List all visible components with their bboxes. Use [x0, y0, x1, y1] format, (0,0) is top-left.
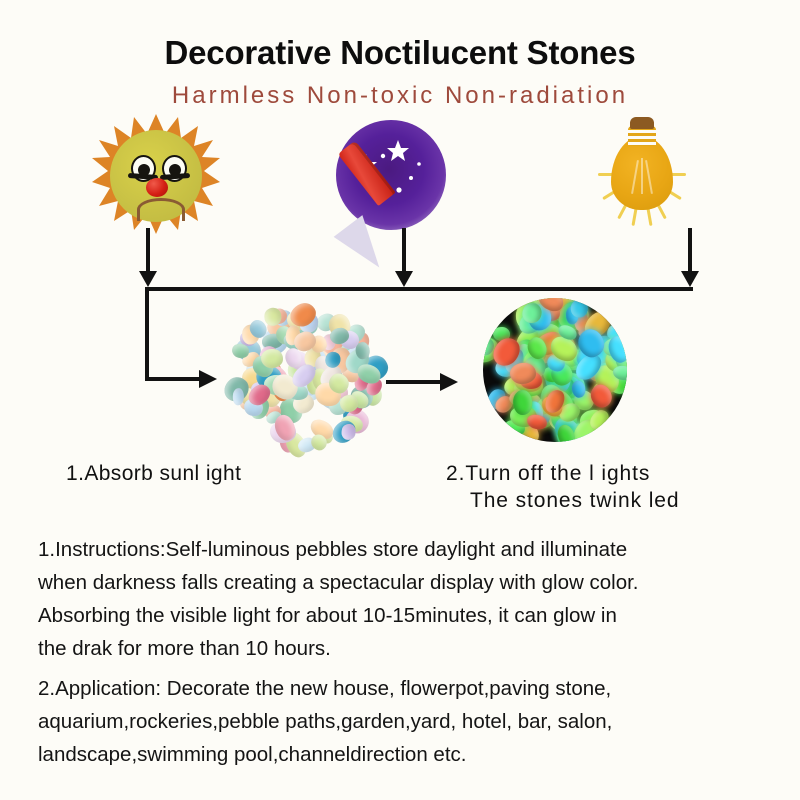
- application-line: landscape,swimming pool,channeldirection…: [38, 738, 768, 771]
- night-brush-icon: [330, 112, 458, 240]
- flow-elbow-horizontal: [145, 377, 201, 381]
- stone: [261, 348, 283, 367]
- bulb-thread: [628, 142, 656, 145]
- sun-icon: [92, 112, 220, 240]
- arrow-night-stem: [402, 228, 406, 274]
- stone: [264, 307, 282, 325]
- arrow-sun-stem: [146, 228, 150, 274]
- page-title: Decorative Noctilucent Stones: [0, 34, 800, 72]
- sun-frown-mouth: [137, 198, 185, 221]
- infographic-page: Decorative Noctilucent Stones Harmless N…: [0, 0, 800, 800]
- bulb-filament: [641, 158, 643, 194]
- star-icons: [336, 120, 446, 230]
- caption-step-2-line-2: The stones twink led: [470, 489, 679, 513]
- instructions-line: when darkness falls creating a spectacul…: [38, 566, 768, 599]
- page-subtitle: Harmless Non-toxic Non-radiation: [0, 82, 800, 110]
- light-bulb-icon: [578, 112, 708, 242]
- instructions-line: the drak for more than 10 hours.: [38, 632, 768, 665]
- caption-step-1: 1.Absorb sunl ight: [66, 462, 241, 486]
- glowing-stones-image: [483, 298, 627, 442]
- instructions-line: Absorbing the visible light for about 10…: [38, 599, 768, 632]
- bulb-thread: [628, 136, 656, 139]
- application-line: 2.Application: Decorate the new house, f…: [38, 672, 768, 705]
- bulb-thread: [628, 130, 656, 133]
- arrow-between-stones-head: [440, 373, 458, 391]
- instructions-line: 1.Instructions:Self-luminous pebbles sto…: [38, 533, 768, 566]
- arrow-to-daylight-stones-head: [199, 370, 217, 388]
- instructions-paragraph: 1.Instructions:Self-luminous pebbles sto…: [38, 533, 768, 665]
- stone: [339, 394, 359, 413]
- sun-nose: [146, 178, 168, 197]
- flow-elbow-vertical: [145, 287, 149, 381]
- application-line: aquarium,rockeries,pebble paths,garden,y…: [38, 705, 768, 738]
- daylight-stones-image: [228, 302, 384, 450]
- arrow-between-stones-stem: [386, 380, 442, 384]
- arrow-bulb-head: [681, 271, 699, 287]
- application-paragraph: 2.Application: Decorate the new house, f…: [38, 672, 768, 771]
- arrow-night-head: [395, 271, 413, 287]
- bulb-screw-cap: [630, 117, 654, 129]
- arrow-sun-head: [139, 271, 157, 287]
- caption-step-2-line-1: 2.Turn off the l ights: [446, 462, 650, 486]
- arrow-bulb-stem: [688, 228, 692, 274]
- flow-bus-line: [145, 287, 693, 291]
